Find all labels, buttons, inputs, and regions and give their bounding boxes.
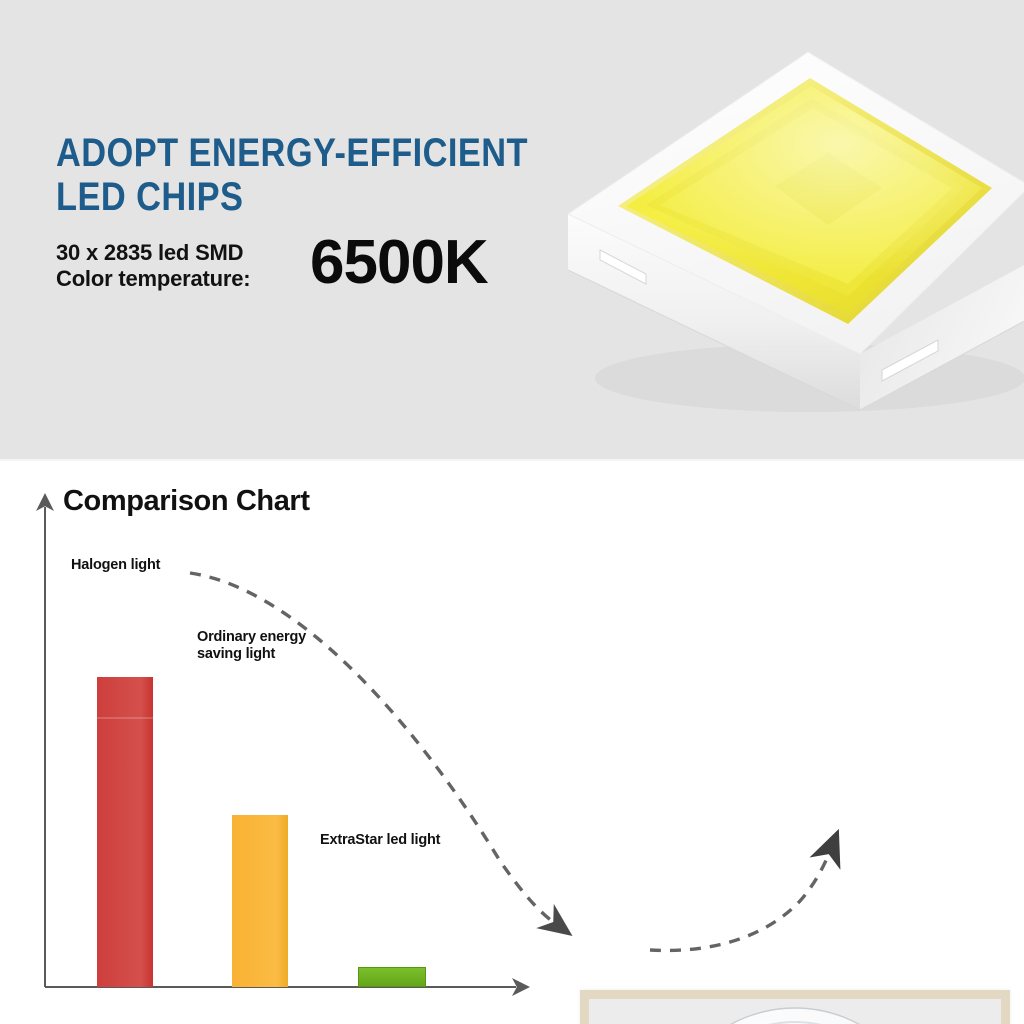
bar-ordinary-energy-saving-light xyxy=(232,815,288,987)
product-photo-frame xyxy=(580,990,1010,1024)
chart-label-led: ExtraStar led light xyxy=(320,832,440,849)
spec-block: 30 x 2835 led SMD Color temperature: xyxy=(56,240,250,292)
chart-label-halogen: Halogen light xyxy=(71,557,160,574)
bar-halogen-light xyxy=(97,677,153,987)
comparison-chart-panel: Comparison Chart Halogen light Ordinary … xyxy=(0,461,1024,1024)
chart-axes xyxy=(0,461,600,1024)
product-photo-mat xyxy=(589,999,1001,1024)
led-smd-chip-icon xyxy=(560,18,1024,438)
bar-extrastar-led-light xyxy=(358,967,426,987)
spec-line-smd: 30 x 2835 led SMD xyxy=(56,240,250,266)
hero-panel: ADOPT ENERGY-EFFICIENT LED CHIPS 30 x 28… xyxy=(0,0,1024,460)
page-title: ADOPT ENERGY-EFFICIENT LED CHIPS xyxy=(56,131,538,219)
color-temperature-value: 6500K xyxy=(310,232,488,294)
spec-line-color-temperature: Color temperature: xyxy=(56,266,250,292)
led-ceiling-light-with-pir-sensor-icon xyxy=(645,1000,945,1024)
chart-label-fluorescent: Ordinary energy saving light xyxy=(197,629,347,663)
